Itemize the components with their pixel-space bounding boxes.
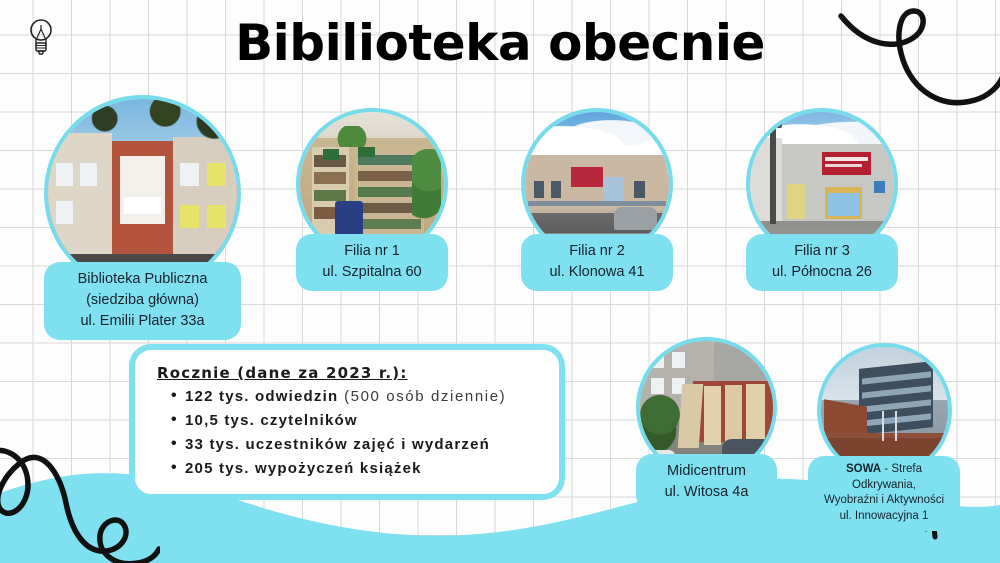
stats-list: 122 tys. odwiedzin (500 osób dziennie) 1… [157,388,541,477]
caption-line: Filia nr 3 [760,241,884,262]
photo-image [821,347,948,474]
caption-line: ul. Szpitalna 60 [310,262,434,283]
stats-title: Rocznie (dane za 2023 r.): [157,364,541,382]
stats-item: 10,5 tys. czytelników [171,412,541,429]
stats-panel: Rocznie (dane za 2023 r.): 122 tys. odwi… [129,344,565,500]
stats-item-value: 205 tys. wypożyczeń książek [185,460,422,477]
card-midicentrum: Midicentrum ul. Witosa 4a [636,337,777,511]
caption-filia-3: Filia nr 3 ul. Północna 26 [746,234,898,291]
caption-line: ul. Witosa 4a [650,482,763,503]
slide-canvas: Bibilioteka obecnie Biblioteka Publiczna [0,0,1000,563]
caption-line: Wyobraźni i Aktywności [816,493,952,509]
caption-line: ul. Emilii Plater 33a [58,311,227,332]
caption-line: ul. Innowacyjna 1 [816,509,952,525]
caption-midicentrum: Midicentrum ul. Witosa 4a [636,454,777,511]
caption-line: Biblioteka Publiczna [58,269,227,290]
card-biblioteka-publiczna: Biblioteka Publiczna (siedziba główna) u… [44,95,241,340]
stats-item: 205 tys. wypożyczeń książek [171,460,541,477]
caption-sowa: SOWA - Strefa Odkrywania, Wyobraźni i Ak… [808,456,960,531]
stats-item-value: 122 tys. odwiedzin [185,388,338,405]
stats-item: 122 tys. odwiedzin (500 osób dziennie) [171,388,541,405]
card-sowa: SOWA - Strefa Odkrywania, Wyobraźni i Ak… [817,343,952,531]
caption-line: ul. Klonowa 41 [535,262,659,283]
caption-line: Filia nr 1 [310,241,434,262]
stats-item: 33 tys. uczestników zajęć i wydarzeń [171,436,541,453]
caption-line: SOWA - Strefa Odkrywania, [816,462,952,493]
caption-filia-2: Filia nr 2 ul. Klonowa 41 [521,234,673,291]
stats-item-note: (500 osób dziennie) [338,388,506,405]
card-filia-1: Filia nr 1 ul. Szpitalna 60 [296,108,448,291]
caption-filia-1: Filia nr 1 ul. Szpitalna 60 [296,234,448,291]
caption-line: Midicentrum [650,461,763,482]
caption-line: (siedziba główna) [58,290,227,311]
card-filia-3: Filia nr 3 ul. Północna 26 [746,108,898,291]
caption-line: ul. Północna 26 [760,262,884,283]
stats-item-value: 33 tys. uczestników zajęć i wydarzeń [185,436,490,453]
caption-biblioteka-publiczna: Biblioteka Publiczna (siedziba główna) u… [44,262,241,340]
page-title: Bibilioteka obecnie [0,14,1000,72]
photo-image [48,99,237,288]
caption-bold: SOWA [846,463,881,475]
stats-item-value: 10,5 tys. czytelników [185,412,358,429]
card-filia-2: Filia nr 2 ul. Klonowa 41 [521,108,673,291]
caption-line: Filia nr 2 [535,241,659,262]
